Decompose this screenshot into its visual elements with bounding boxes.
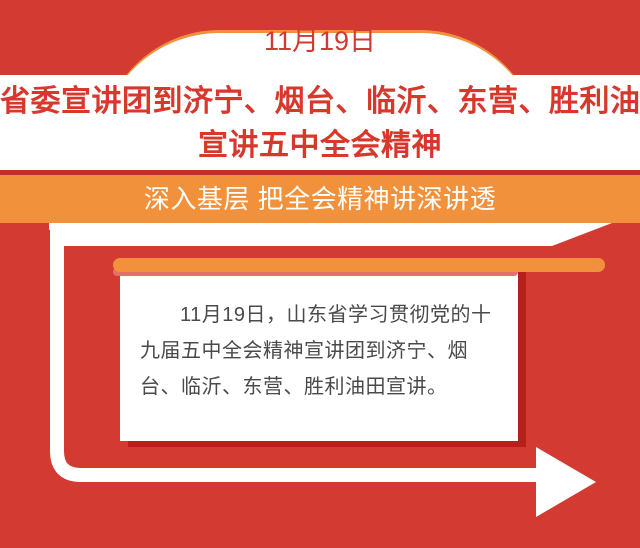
date-badge: 11月19日 <box>0 28 640 55</box>
headline-line-2: 宣讲五中全会精神 <box>0 124 640 168</box>
headline-block: 省委宣讲团到济宁、烟台、临沂、东营、胜利油田 宣讲五中全会精神 <box>0 75 640 170</box>
headline-line-1: 省委宣讲团到济宁、烟台、临沂、东营、胜利油田 <box>0 80 640 124</box>
poster-root: 11月19日 省委宣讲团到济宁、烟台、临沂、东营、胜利油田 宣讲五中全会精神 深… <box>0 0 640 548</box>
subtitle-band: 深入基层 把全会精神讲深讲透 <box>0 175 640 223</box>
subtitle-text: 深入基层 把全会精神讲深讲透 <box>0 175 640 223</box>
left-red-column <box>0 223 49 463</box>
ribbon-white-strip <box>0 223 640 246</box>
content-card-body-text: 11月19日，山东省学习贯彻党的十九届五中全会精神宣讲团到济宁、烟台、临沂、东营… <box>140 297 498 405</box>
content-card-orange-bar <box>113 258 605 272</box>
